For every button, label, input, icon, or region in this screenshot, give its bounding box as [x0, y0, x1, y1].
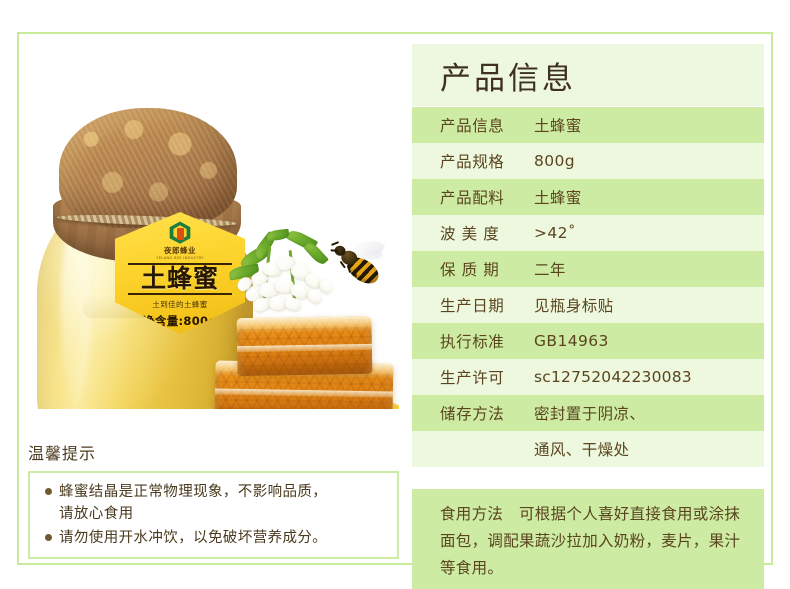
row-label: 保 质 期: [440, 258, 526, 280]
product-info-table: 产品信息 土蜂蜜 产品规格 800g 产品配料 土蜂蜜 波 美 度 >42˚ 保…: [412, 107, 764, 467]
info-header: 产品信息: [412, 44, 764, 106]
table-row: 生产日期 见瓶身标贴: [412, 287, 764, 323]
row-value: 通风、干燥处: [534, 438, 629, 460]
row-value: 800g: [534, 152, 575, 170]
product-photo: 夜郎蜂业 YELANG BEE INDUSTRY 土蜂蜜 土到佳的土蜂蜜 净含量…: [19, 34, 399, 409]
table-row: 波 美 度 >42˚: [412, 215, 764, 251]
left-panel: 夜郎蜂业 YELANG BEE INDUSTRY 土蜂蜜 土到佳的土蜂蜜 净含量…: [19, 34, 399, 563]
table-row: 通风、干燥处: [412, 431, 764, 467]
row-value: 二年: [534, 258, 566, 280]
bullet-icon: [45, 534, 52, 541]
row-value: >42˚: [534, 224, 576, 242]
table-row: 产品信息 土蜂蜜: [412, 107, 764, 143]
row-label: 执行标准: [440, 330, 526, 352]
row-label: 波 美 度: [440, 222, 526, 244]
row-value: 见瓶身标贴: [534, 294, 614, 316]
bullet-icon: [45, 488, 52, 495]
tip-item: 蜂蜜结晶是正常物理现象，不影响品质， 请放心食用: [38, 481, 391, 525]
row-value: 土蜂蜜: [534, 186, 582, 208]
row-label: 生产许可: [440, 366, 526, 388]
row-value: 土蜂蜜: [534, 114, 582, 136]
table-row: 产品规格 800g: [412, 143, 764, 179]
page-title: 产品信息: [440, 53, 576, 98]
table-row: 生产许可 sc12752042230083: [412, 359, 764, 395]
acacia-flower-cluster: [19, 34, 399, 409]
tip-item: 请勿使用开水冲饮，以免破坏营养成分。: [38, 527, 391, 549]
usage-text: 食用方法 可根据个人喜好直接食用或涂抹面包，调配果蔬沙拉加入奶粉，麦片，果汁等食…: [440, 501, 746, 582]
row-label: 产品信息: [440, 114, 526, 136]
tip-text: 请勿使用开水冲饮，以免破坏营养成分。: [59, 527, 327, 549]
table-row: 保 质 期 二年: [412, 251, 764, 287]
row-value: GB14963: [534, 332, 609, 350]
tips-title: 温馨提示: [28, 440, 96, 464]
usage-label: 食用方法: [440, 505, 503, 523]
row-value: 密封置于阴凉、: [534, 402, 645, 424]
row-value: sc12752042230083: [534, 368, 692, 386]
row-label: 产品规格: [440, 150, 526, 172]
table-row: 储存方法 密封置于阴凉、: [412, 395, 764, 431]
product-info-panel: 产品信息 产品信息 土蜂蜜 产品规格 800g 产品配料 土蜂蜜 波 美 度 >…: [412, 44, 764, 552]
table-row: 产品配料 土蜂蜜: [412, 179, 764, 215]
row-label: 产品配料: [440, 186, 526, 208]
product-detail-page: 夜郎蜂业 YELANG BEE INDUSTRY 土蜂蜜 土到佳的土蜂蜜 净含量…: [0, 0, 790, 582]
row-label: 生产日期: [440, 294, 526, 316]
row-label: 储存方法: [440, 402, 526, 424]
table-row: 执行标准 GB14963: [412, 323, 764, 359]
tips-box: 蜂蜜结晶是正常物理现象，不影响品质， 请放心食用 请勿使用开水冲饮，以免破坏营养…: [28, 471, 399, 559]
tip-text: 蜂蜜结晶是正常物理现象，不影响品质， 请放心食用: [59, 481, 327, 525]
usage-box: 食用方法 可根据个人喜好直接食用或涂抹面包，调配果蔬沙拉加入奶粉，麦片，果汁等食…: [412, 489, 764, 589]
